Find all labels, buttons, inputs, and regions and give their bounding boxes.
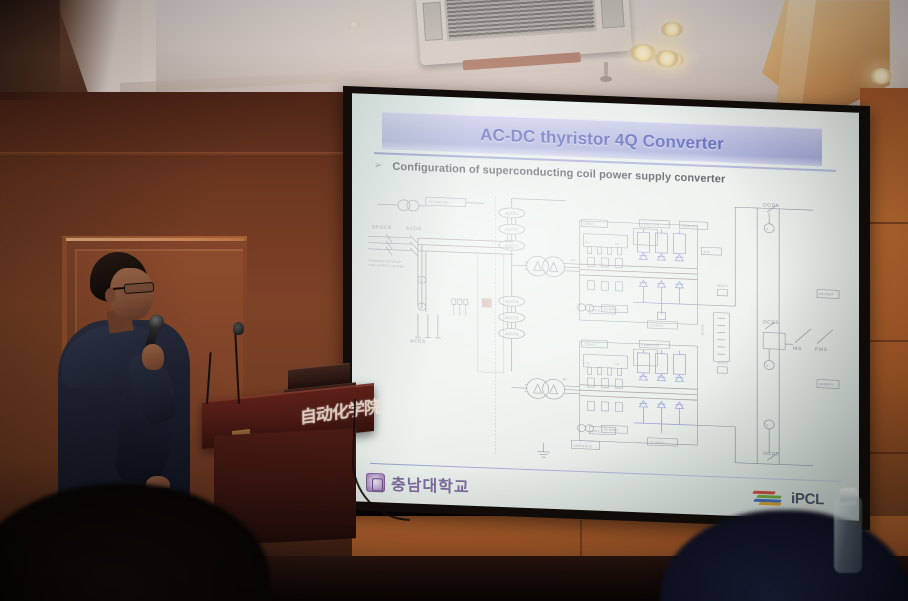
converter-transformer-lower: -90°: [512, 376, 580, 400]
svg-text:ACCT4: ACCT4: [505, 299, 520, 304]
slide-title-bar: AC-DC thyristor 4Q Converter: [382, 111, 822, 166]
ipcl-mark-icon: Intelligent Power Conversion Laboratory: [752, 488, 788, 506]
ac-vent-right: [600, 0, 625, 29]
downlight-icon: [655, 50, 679, 67]
thyristor-bridge-blue-lower: [633, 349, 689, 434]
svg-text:CONV.CTRL: CONV.CTRL: [641, 343, 659, 347]
gooseneck-microphone-head-icon: [233, 322, 244, 335]
circuit-schematic-diagram: .ln{stroke:#6e7780;stroke-width:.7;fill:…: [366, 186, 845, 474]
svg-text:F1: F1: [586, 241, 590, 245]
lab-logo-text: iPCL: [791, 490, 824, 508]
svg-text:ACCT1: ACCT1: [505, 211, 520, 216]
svg-text:CONV.2: CONV.2: [584, 342, 596, 346]
converter-transformer-upper: +90°: [512, 255, 580, 277]
svg-text:A: A: [420, 306, 423, 310]
svg-text:SFOCB: SFOCB: [372, 225, 392, 231]
svg-text:AC.MON2: AC.MON2: [604, 428, 619, 432]
svg-text:+90°: +90°: [570, 258, 577, 262]
svg-text:ACCT2: ACCT2: [505, 227, 520, 232]
svg-text:ACCT5: ACCT5: [505, 315, 520, 320]
presenter-hand-holding-microphone: [142, 344, 164, 370]
svg-text:SC COIL: SC COIL: [700, 324, 704, 336]
svg-text:CONV.CTRL: CONV.CTRL: [641, 222, 659, 226]
presenter-face: [110, 268, 154, 320]
svg-text:DC OUT2: DC OUT2: [649, 440, 663, 444]
downlight-icon: [348, 20, 360, 29]
ac-current-transformers: ACCT1 ACCT2 ACCT3 ACCT4 ACCT5 ACCT6: [499, 198, 566, 373]
presentation-room-scene: AC-DC thyristor 4Q Converter ➢ Configura…: [0, 0, 908, 601]
svg-text:F4: F4: [615, 363, 619, 367]
svg-text:ACDS: ACDS: [406, 226, 422, 232]
svg-text:PMS: PMS: [815, 347, 828, 353]
downlight-icon: [870, 68, 892, 84]
presentation-slide: AC-DC thyristor 4Q Converter ➢ Configura…: [352, 93, 859, 520]
eyeglasses-icon: [124, 282, 155, 294]
thyristor-converter-upper: F1 F2: [578, 217, 708, 330]
thyristor-converter-lower: F3 F4: [578, 338, 698, 447]
svg-text:CONV.1: CONV.1: [584, 222, 596, 226]
wall-trim: [0, 152, 352, 157]
schematic-svg: .ln{stroke:#6e7780;stroke-width:.7;fill:…: [366, 186, 845, 474]
svg-text:F2: F2: [615, 242, 619, 246]
lab-logo: Intelligent Power Conversion Laboratory …: [752, 488, 824, 508]
bullet-arrow-icon: ➢: [374, 161, 382, 171]
projection-screen-surface: AC-DC thyristor 4Q Converter ➢ Configura…: [352, 93, 859, 520]
svg-text:F3: F3: [586, 361, 590, 365]
projection-screen: AC-DC thyristor 4Q Converter ➢ Configura…: [343, 86, 870, 530]
corner-shadow: [0, 0, 60, 100]
door-top-highlight: [66, 238, 244, 241]
svg-text:6.6kV 10 MVA 2 windings: 6.6kV 10 MVA 2 windings: [368, 263, 404, 268]
svg-text:DC PROT: DC PROT: [819, 292, 833, 296]
svg-text:DCDS: DCDS: [763, 203, 780, 209]
presenter-ear: [105, 288, 116, 303]
water-bottle-cap: [840, 488, 857, 501]
slide-title: AC-DC thyristor 4Q Converter: [382, 112, 822, 166]
svg-text:QUENCH: QUENCH: [819, 382, 833, 386]
superconducting-coil: SC COIL: [700, 312, 729, 362]
svg-text:MS: MS: [793, 346, 802, 352]
slide-bullet-row: ➢ Configuration of superconducting coil …: [374, 160, 844, 190]
svg-text:EARTH BUS: EARTH BUS: [574, 444, 592, 448]
svg-text:SNUB.CKT: SNUB.CKT: [681, 224, 697, 228]
svg-text:ACCT6: ACCT6: [505, 331, 520, 336]
ac-vent-left: [422, 2, 443, 41]
svg-text:ACCT3: ACCT3: [505, 243, 520, 248]
svg-text:AC.MON1: AC.MON1: [604, 307, 619, 311]
svg-text:DC OUT1: DC OUT1: [649, 323, 663, 327]
svg-text:AUX: AUX: [703, 250, 710, 254]
thyristor-bridge-blue-upper: [633, 228, 689, 320]
ac-grille: [444, 0, 597, 41]
svg-text:S: S: [766, 423, 768, 427]
ac-incoming-section: AC 6.6kV 3ph SFOCB: [368, 195, 514, 348]
svg-text:S: S: [766, 227, 768, 231]
downlight-icon: [630, 44, 656, 62]
svg-text:AC 6.6kV 3ph: AC 6.6kV 3ph: [429, 200, 449, 205]
svg-text:V: V: [420, 279, 423, 283]
downlight-icon: [661, 22, 683, 37]
footer-spacer: [470, 486, 752, 497]
svg-text:ACES: ACES: [410, 338, 426, 344]
svg-text:-90°: -90°: [562, 378, 569, 382]
svg-text:S: S: [766, 364, 768, 368]
svg-text:DCDS: DCDS: [763, 451, 780, 457]
sprinkler-head-icon: [604, 62, 608, 78]
water-bottle: [834, 497, 862, 573]
svg-text:DCCT1: DCCT1: [717, 284, 728, 288]
dc-side-section: DCDS S DCES S: [689, 200, 839, 467]
